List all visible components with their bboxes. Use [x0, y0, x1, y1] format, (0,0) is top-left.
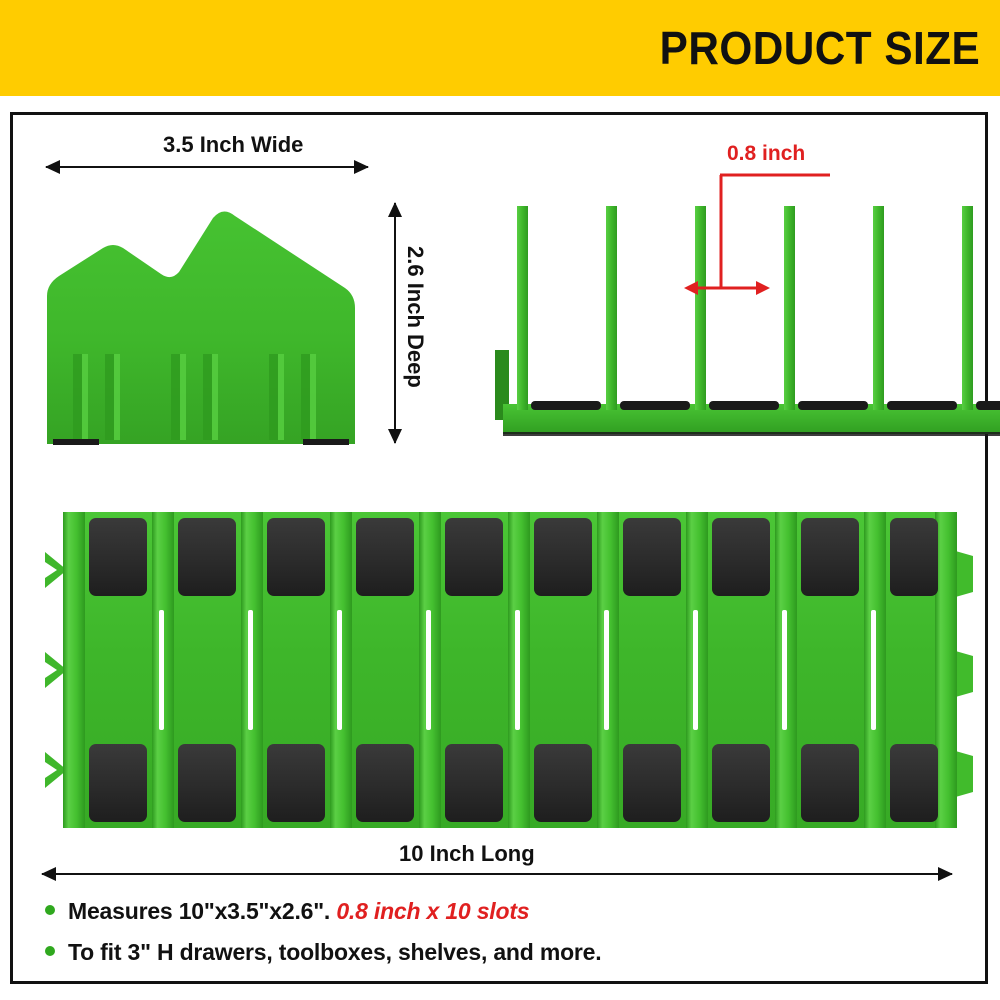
bullet-dot-icon	[45, 946, 55, 956]
bullet-text-accent: 0.8 inch x 10 slots	[336, 898, 529, 924]
top-view-illustration	[45, 500, 975, 840]
width-dimension-label: 3.5 Inch Wide	[163, 132, 303, 158]
list-item: Measures 10"x3.5"x2.6". 0.8 inch x 10 sl…	[45, 898, 945, 925]
side-profile-illustration	[45, 196, 365, 446]
product-size-infographic: PRODUCT SIZE 3.5 Inch Wide 2.6 Inch Deep	[0, 0, 1000, 1000]
length-dimension-arrow	[42, 873, 952, 875]
header-banner: PRODUCT SIZE	[0, 0, 1000, 96]
base-shadow	[503, 432, 1000, 436]
width-dimension-arrow	[46, 166, 368, 168]
depth-dimension-arrow	[394, 203, 396, 443]
depth-dimension-label: 2.6 Inch Deep	[402, 246, 428, 388]
bullet-dot-icon	[45, 905, 55, 915]
length-dimension-label: 10 Inch Long	[399, 841, 535, 867]
bullet-text-main: Measures 10"x3.5"x2.6".	[68, 898, 336, 924]
feature-bullet-list: Measures 10"x3.5"x2.6". 0.8 inch x 10 sl…	[45, 898, 945, 980]
bullet-text: To fit 3" H drawers, toolboxes, shelves,…	[68, 939, 601, 966]
bullet-text: Measures 10"x3.5"x2.6". 0.8 inch x 10 sl…	[68, 898, 529, 925]
bullet-text-main: To fit 3" H drawers, toolboxes, shelves,…	[68, 939, 601, 965]
list-item: To fit 3" H drawers, toolboxes, shelves,…	[45, 939, 945, 966]
page-title: PRODUCT SIZE	[659, 21, 1000, 75]
slot-width-callout	[680, 140, 910, 305]
